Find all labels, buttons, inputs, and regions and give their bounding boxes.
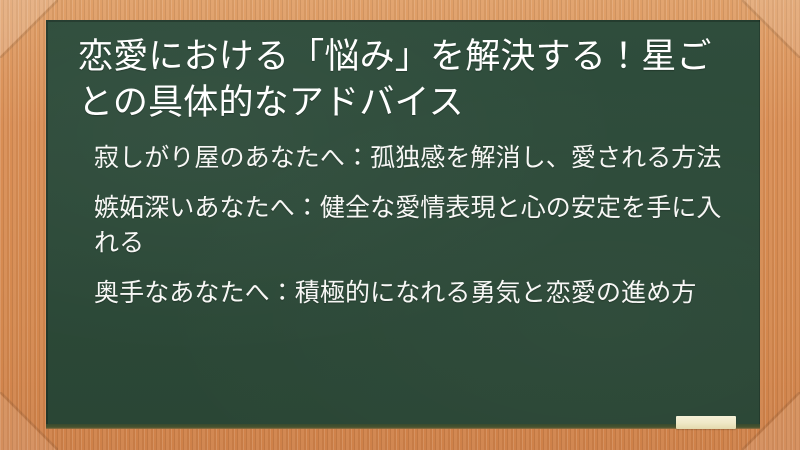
list-item: 寂しがり屋のあなたへ：孤独感を解消し、愛される方法 bbox=[94, 141, 730, 177]
chalkboard-ledge bbox=[46, 424, 760, 429]
slide-bullet-list: 寂しがり屋のあなたへ：孤独感を解消し、愛される方法 嫉妬深いあなたへ：健全な愛情… bbox=[70, 141, 736, 311]
chalk-stick-icon bbox=[676, 416, 736, 429]
slide-title: 恋愛における「悩み」を解決する！星ごとの具体的なアドバイス bbox=[70, 34, 736, 125]
chalkboard: 恋愛における「悩み」を解決する！星ごとの具体的なアドバイス 寂しがり屋のあなたへ… bbox=[46, 20, 760, 428]
list-item: 嫉妬深いあなたへ：健全な愛情表現と心の安定を手に入れる bbox=[94, 191, 730, 262]
list-item: 奥手なあなたへ：積極的になれる勇気と恋愛の進め方 bbox=[94, 276, 730, 312]
slide-root: 恋愛における「悩み」を解決する！星ごとの具体的なアドバイス 寂しがり屋のあなたへ… bbox=[0, 0, 800, 450]
